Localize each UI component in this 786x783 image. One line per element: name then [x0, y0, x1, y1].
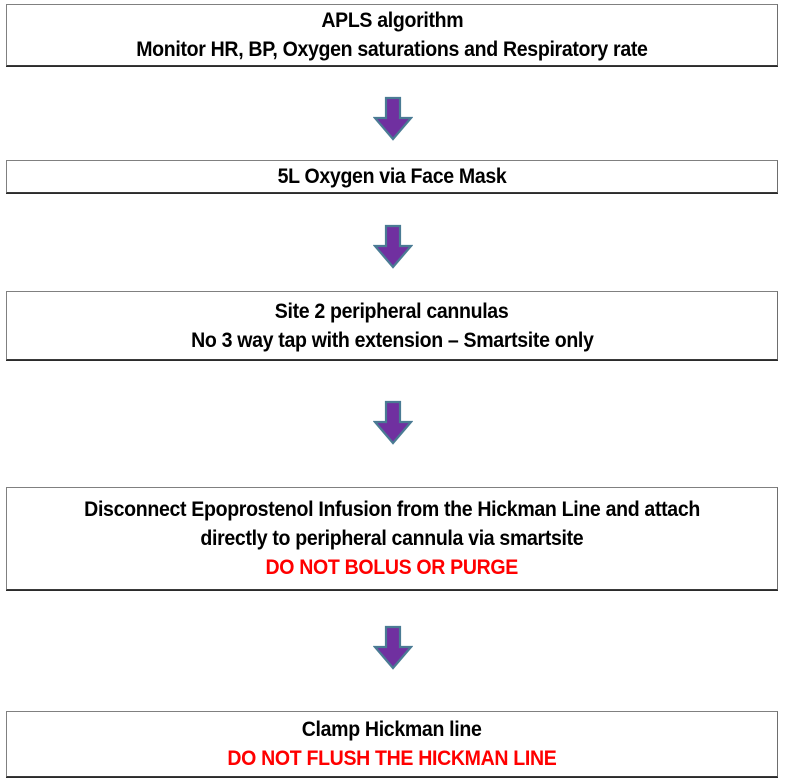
flow-node-line: Site 2 peripheral cannulas: [275, 297, 509, 326]
flow-node-line: directly to peripheral cannula via smart…: [201, 524, 584, 553]
flow-node-clamp-hickman-line: Clamp Hickman line DO NOT FLUSH THE HICK…: [6, 711, 778, 777]
flow-node-line: 5L Oxygen via Face Mask: [278, 162, 507, 191]
flow-node-line: Disconnect Epoprostenol Infusion from th…: [84, 495, 700, 524]
flow-node-line: Monitor HR, BP, Oxygen saturations and R…: [136, 35, 647, 64]
flow-node-warning-line: DO NOT BOLUS OR PURGE: [266, 553, 518, 582]
arrow-down-icon: [373, 625, 413, 670]
flow-node-oxygen-face-mask: 5L Oxygen via Face Mask: [6, 160, 778, 193]
flow-node-disconnect-epoprostenol: Disconnect Epoprostenol Infusion from th…: [6, 487, 778, 590]
flow-node-apls-algorithm: APLS algorithm Monitor HR, BP, Oxygen sa…: [6, 4, 778, 66]
apls-algorithm-flowchart: APLS algorithm Monitor HR, BP, Oxygen sa…: [0, 0, 786, 783]
arrow-down-icon: [373, 96, 413, 141]
flow-node-warning-line: DO NOT FLUSH THE HICKMAN LINE: [227, 744, 556, 773]
arrow-down-icon: [373, 400, 413, 445]
flow-node-line: Clamp Hickman line: [302, 715, 482, 744]
flow-node-peripheral-cannulas: Site 2 peripheral cannulas No 3 way tap …: [6, 291, 778, 360]
arrow-down-icon: [373, 224, 413, 269]
flow-node-line: No 3 way tap with extension – Smartsite …: [191, 326, 593, 355]
flow-node-line: APLS algorithm: [321, 6, 463, 35]
